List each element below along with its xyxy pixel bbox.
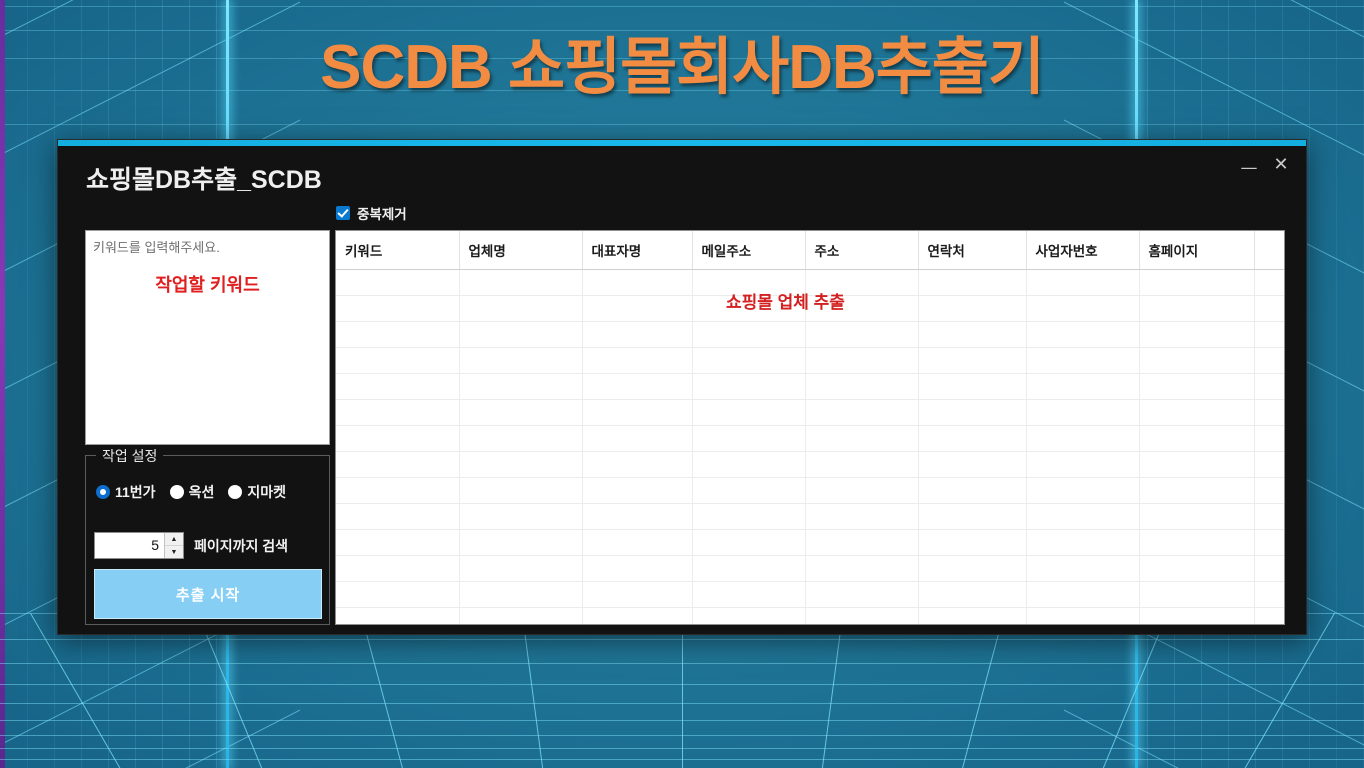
table-cell[interactable] bbox=[1026, 425, 1139, 451]
table-cell[interactable] bbox=[918, 581, 1026, 607]
table-cell[interactable] bbox=[692, 347, 805, 373]
table-cell[interactable] bbox=[918, 555, 1026, 581]
table-cell[interactable] bbox=[459, 529, 582, 555]
table-annotation: 쇼핑몰 업체 추출 bbox=[726, 288, 845, 313]
table-cell[interactable] bbox=[1254, 451, 1285, 477]
radio-label-11st: 11번가 bbox=[115, 482, 156, 502]
table-row[interactable] bbox=[336, 399, 1285, 425]
table-cell[interactable] bbox=[805, 321, 918, 347]
table-cell[interactable] bbox=[1026, 581, 1139, 607]
floor-grid bbox=[0, 613, 1364, 768]
table-cell[interactable] bbox=[336, 425, 459, 451]
table-cell[interactable] bbox=[918, 425, 1026, 451]
table-cell[interactable] bbox=[1254, 425, 1285, 451]
table-cell[interactable] bbox=[1139, 321, 1254, 347]
table-cell[interactable] bbox=[582, 321, 692, 347]
table-cell[interactable] bbox=[582, 425, 692, 451]
table-cell[interactable] bbox=[1254, 529, 1285, 555]
stepper-arrows[interactable]: ▲ ▼ bbox=[164, 533, 183, 558]
table-cell[interactable] bbox=[582, 477, 692, 503]
table-cell[interactable] bbox=[336, 477, 459, 503]
table-cell[interactable] bbox=[805, 503, 918, 529]
table-header-cell[interactable] bbox=[1254, 231, 1285, 269]
table-header-cell[interactable]: 연락처 bbox=[918, 231, 1026, 269]
table-row[interactable] bbox=[336, 581, 1285, 607]
table-cell[interactable] bbox=[1139, 347, 1254, 373]
start-extraction-button[interactable]: 추출 시작 bbox=[94, 569, 322, 619]
table-row[interactable] bbox=[336, 321, 1285, 347]
table-cell[interactable] bbox=[1139, 295, 1254, 321]
table-cell[interactable] bbox=[582, 529, 692, 555]
table-cell[interactable] bbox=[1026, 373, 1139, 399]
table-cell[interactable] bbox=[692, 607, 805, 625]
table-cell[interactable] bbox=[1254, 555, 1285, 581]
table-cell[interactable] bbox=[459, 399, 582, 425]
window-title: 쇼핑몰DB추출_SCDB bbox=[86, 160, 322, 196]
table-cell[interactable] bbox=[805, 555, 918, 581]
table-cell[interactable] bbox=[1139, 503, 1254, 529]
table-header-cell[interactable]: 메일주소 bbox=[692, 231, 805, 269]
table-cell[interactable] bbox=[918, 451, 1026, 477]
table-header-cell[interactable]: 주소 bbox=[805, 231, 918, 269]
table-cell[interactable] bbox=[1026, 555, 1139, 581]
radio-item-auction[interactable]: 옥션 bbox=[170, 482, 215, 502]
table-cell[interactable] bbox=[692, 555, 805, 581]
app-window: 쇼핑몰DB추출_SCDB — ✕ 중복제거 키워드를 입력해주세요. 작업할 키… bbox=[57, 139, 1307, 635]
table-header-cell[interactable]: 사업자번호 bbox=[1026, 231, 1139, 269]
table-cell[interactable] bbox=[1026, 269, 1139, 295]
table-cell[interactable] bbox=[1254, 295, 1285, 321]
table-cell[interactable] bbox=[1139, 581, 1254, 607]
table-row[interactable] bbox=[336, 451, 1285, 477]
table-cell[interactable] bbox=[692, 425, 805, 451]
table-cell[interactable] bbox=[336, 321, 459, 347]
table-cell[interactable] bbox=[1139, 555, 1254, 581]
table-cell[interactable] bbox=[582, 269, 692, 295]
table-cell[interactable] bbox=[336, 555, 459, 581]
table-cell[interactable] bbox=[805, 373, 918, 399]
keyword-annotation: 작업할 키워드 bbox=[86, 271, 329, 297]
table-cell[interactable] bbox=[805, 477, 918, 503]
table-cell[interactable] bbox=[805, 347, 918, 373]
table-cell[interactable] bbox=[582, 503, 692, 529]
page-title: SCDB 쇼핑몰회사DB추출기 bbox=[0, 16, 1364, 106]
table-header-row: 키워드업체명대표자명메일주소주소연락처사업자번호홈페이지 bbox=[336, 231, 1285, 269]
radio-label-gmarket: 지마켓 bbox=[247, 482, 286, 502]
table-cell[interactable] bbox=[1254, 373, 1285, 399]
table-cell[interactable] bbox=[1254, 503, 1285, 529]
table-cell[interactable] bbox=[1026, 321, 1139, 347]
table-cell[interactable] bbox=[1139, 529, 1254, 555]
table-cell[interactable] bbox=[1139, 425, 1254, 451]
table-cell[interactable] bbox=[805, 607, 918, 625]
table-cell[interactable] bbox=[1254, 269, 1285, 295]
table-header-cell[interactable]: 업체명 bbox=[459, 231, 582, 269]
table-cell[interactable] bbox=[918, 347, 1026, 373]
table-cell[interactable] bbox=[918, 503, 1026, 529]
table-row[interactable] bbox=[336, 529, 1285, 555]
table-cell[interactable] bbox=[1254, 347, 1285, 373]
radio-icon-gmarket[interactable] bbox=[228, 485, 242, 499]
table-cell[interactable] bbox=[582, 451, 692, 477]
close-icon[interactable]: ✕ bbox=[1268, 155, 1294, 175]
table-header-cell[interactable]: 키워드 bbox=[336, 231, 459, 269]
table-cell[interactable] bbox=[459, 555, 582, 581]
table-row[interactable] bbox=[336, 373, 1285, 399]
page-count-value[interactable]: 5 bbox=[95, 533, 164, 558]
table-row[interactable] bbox=[336, 477, 1285, 503]
table-cell[interactable] bbox=[692, 451, 805, 477]
table-cell[interactable] bbox=[1026, 347, 1139, 373]
table-cell[interactable] bbox=[1026, 477, 1139, 503]
table-cell[interactable] bbox=[459, 269, 582, 295]
radio-item-11st[interactable]: 11번가 bbox=[96, 482, 156, 502]
table-cell[interactable] bbox=[459, 607, 582, 625]
table-cell[interactable] bbox=[336, 503, 459, 529]
table-cell[interactable] bbox=[459, 347, 582, 373]
table-cell[interactable] bbox=[692, 373, 805, 399]
table-cell[interactable] bbox=[805, 399, 918, 425]
table-header-cell[interactable]: 홈페이지 bbox=[1139, 231, 1254, 269]
table-cell[interactable] bbox=[692, 477, 805, 503]
table-cell[interactable] bbox=[336, 295, 459, 321]
table-cell[interactable] bbox=[918, 529, 1026, 555]
table-cell[interactable] bbox=[805, 451, 918, 477]
table-cell[interactable] bbox=[459, 425, 582, 451]
table-cell[interactable] bbox=[1026, 503, 1139, 529]
radio-icon-auction[interactable] bbox=[170, 485, 184, 499]
table-cell[interactable] bbox=[805, 425, 918, 451]
page-count-stepper[interactable]: 5 ▲ ▼ bbox=[94, 532, 184, 559]
table-cell[interactable] bbox=[336, 399, 459, 425]
table-cell[interactable] bbox=[336, 269, 459, 295]
radio-item-gmarket[interactable]: 지마켓 bbox=[228, 482, 286, 502]
dedupe-checkbox[interactable] bbox=[336, 206, 350, 220]
table-cell[interactable] bbox=[692, 399, 805, 425]
table-cell[interactable] bbox=[918, 399, 1026, 425]
table-cell[interactable] bbox=[459, 477, 582, 503]
table-cell[interactable] bbox=[918, 269, 1026, 295]
table-cell[interactable] bbox=[582, 347, 692, 373]
table-header-cell[interactable]: 대표자명 bbox=[582, 231, 692, 269]
table-cell[interactable] bbox=[1026, 607, 1139, 625]
page-count-label: 페이지까지 검색 bbox=[194, 536, 288, 556]
minimize-icon[interactable]: — bbox=[1236, 158, 1262, 178]
window-titlebar[interactable]: 쇼핑몰DB추출_SCDB — ✕ bbox=[58, 146, 1306, 202]
table-cell[interactable] bbox=[336, 373, 459, 399]
table-cell[interactable] bbox=[1139, 399, 1254, 425]
keyword-placeholder: 키워드를 입력해주세요. bbox=[93, 237, 220, 256]
table-cell[interactable] bbox=[459, 451, 582, 477]
table-cell[interactable] bbox=[582, 295, 692, 321]
table-cell[interactable] bbox=[336, 581, 459, 607]
dedupe-checkbox-row[interactable]: 중복제거 bbox=[336, 203, 407, 223]
table-cell[interactable] bbox=[692, 581, 805, 607]
page-count-row[interactable]: 5 ▲ ▼ 페이지까지 검색 bbox=[94, 532, 288, 559]
table-cell[interactable] bbox=[1139, 373, 1254, 399]
table-cell[interactable] bbox=[1254, 581, 1285, 607]
table-cell[interactable] bbox=[459, 321, 582, 347]
table-cell[interactable] bbox=[336, 529, 459, 555]
table-row[interactable] bbox=[336, 425, 1285, 451]
table-row[interactable] bbox=[336, 607, 1285, 625]
table-cell[interactable] bbox=[582, 581, 692, 607]
table-cell[interactable] bbox=[1026, 399, 1139, 425]
radio-icon-11st[interactable] bbox=[96, 485, 110, 499]
keyword-input[interactable]: 키워드를 입력해주세요. 작업할 키워드 bbox=[85, 230, 330, 445]
table-cell[interactable] bbox=[336, 451, 459, 477]
table-cell[interactable] bbox=[1254, 607, 1285, 625]
table-cell[interactable] bbox=[1139, 607, 1254, 625]
table-cell[interactable] bbox=[336, 347, 459, 373]
table-cell[interactable] bbox=[582, 555, 692, 581]
table-cell[interactable] bbox=[459, 373, 582, 399]
radio-label-auction: 옥션 bbox=[189, 482, 215, 502]
table-cell[interactable] bbox=[918, 321, 1026, 347]
table-cell[interactable] bbox=[692, 529, 805, 555]
table-row[interactable] bbox=[336, 555, 1285, 581]
screen: SCDB 쇼핑몰회사DB추출기 쇼핑몰DB추출_SCDB — ✕ 중복제거 키워… bbox=[0, 0, 1364, 768]
table-cell[interactable] bbox=[918, 477, 1026, 503]
table-cell[interactable] bbox=[918, 373, 1026, 399]
table-cell[interactable] bbox=[582, 373, 692, 399]
table-cell[interactable] bbox=[1254, 399, 1285, 425]
settings-legend: 작업 설정 bbox=[96, 446, 163, 466]
table-cell[interactable] bbox=[805, 529, 918, 555]
table-cell[interactable] bbox=[582, 399, 692, 425]
table-cell[interactable] bbox=[1026, 529, 1139, 555]
marketplace-radio-group[interactable]: 11번가 옥션 지마켓 bbox=[96, 482, 286, 502]
table-cell[interactable] bbox=[459, 503, 582, 529]
table-cell[interactable] bbox=[918, 607, 1026, 625]
table-cell[interactable] bbox=[1254, 321, 1285, 347]
table-cell[interactable] bbox=[692, 321, 805, 347]
table-cell[interactable] bbox=[692, 503, 805, 529]
table-cell[interactable] bbox=[459, 295, 582, 321]
dedupe-label: 중복제거 bbox=[357, 203, 407, 223]
table-cell[interactable] bbox=[336, 607, 459, 625]
stepper-up-icon[interactable]: ▲ bbox=[165, 533, 183, 545]
table-cell[interactable] bbox=[459, 581, 582, 607]
table-cell[interactable] bbox=[582, 607, 692, 625]
table-body bbox=[336, 269, 1285, 625]
table-row[interactable] bbox=[336, 347, 1285, 373]
settings-groupbox: 작업 설정 11번가 옥션 지마켓 5 bbox=[85, 455, 330, 625]
table-cell[interactable] bbox=[1139, 269, 1254, 295]
table-cell[interactable] bbox=[918, 295, 1026, 321]
table-cell[interactable] bbox=[1254, 477, 1285, 503]
table-row[interactable] bbox=[336, 503, 1285, 529]
stepper-down-icon[interactable]: ▼ bbox=[165, 545, 183, 558]
table-cell[interactable] bbox=[1026, 451, 1139, 477]
results-table-container[interactable]: 키워드업체명대표자명메일주소주소연락처사업자번호홈페이지 쇼핑몰 업체 추출 bbox=[335, 230, 1285, 625]
table-cell[interactable] bbox=[1026, 295, 1139, 321]
table-cell[interactable] bbox=[1139, 451, 1254, 477]
table-cell[interactable] bbox=[805, 581, 918, 607]
table-cell[interactable] bbox=[1139, 477, 1254, 503]
